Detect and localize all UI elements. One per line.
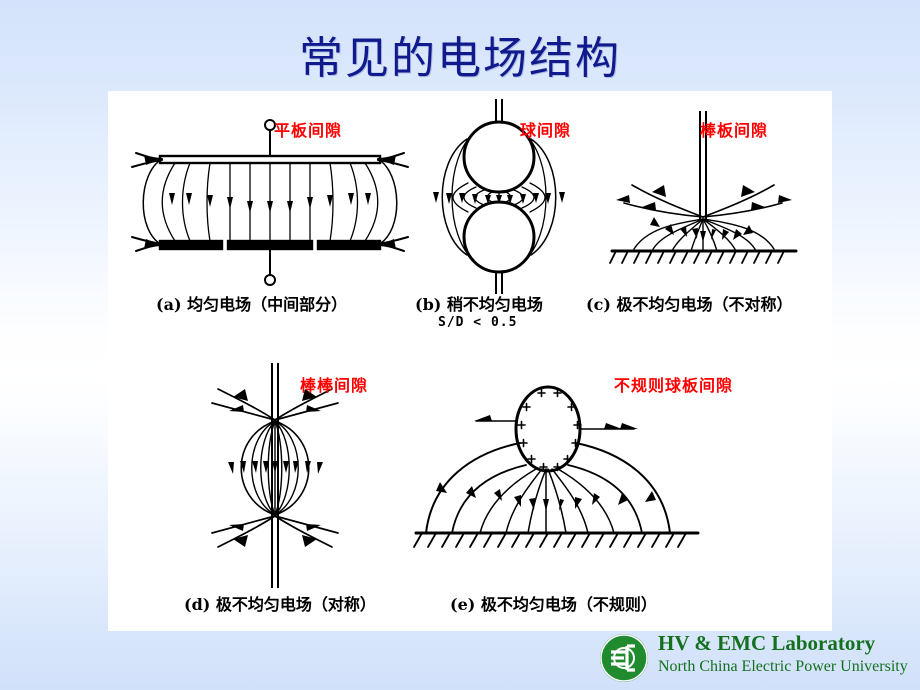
caption-e: (e) 极不均匀电场（不规则） <box>450 591 657 615</box>
caption-c: (c) 极不均匀电场（不对称） <box>586 291 792 315</box>
label-plate-gap: 平板间隙 <box>274 117 342 141</box>
label-rod-plate-gap: 棒板间隙 <box>700 117 768 141</box>
label-sphere-gap: 球间隙 <box>520 117 571 141</box>
logo-line-1: HV & EMC Laboratory <box>658 630 918 656</box>
page-title: 常见的电场结构 <box>0 22 920 86</box>
label-irregular-sphere-plate-gap: 不规则球板间隙 <box>614 372 733 396</box>
subcaption-b: S/D < 0.5 <box>438 315 517 330</box>
content-panel: 平板间隙 <box>108 91 832 631</box>
caption-b: (b) 稍不均匀电场 <box>415 291 543 315</box>
figure-rod-rod-gap <box>204 363 384 588</box>
logo-line-2: North China Electric Power University <box>658 656 918 678</box>
caption-a: (a) 均匀电场（中间部分） <box>156 291 347 315</box>
ncepu-logo-icon <box>598 632 650 684</box>
figure-plate-gap <box>120 113 420 293</box>
logo: HV & EMC Laboratory North China Electric… <box>598 630 918 688</box>
caption-d: (d) 极不均匀电场（对称） <box>184 591 376 615</box>
figure-irregular-sphere-plate-gap <box>408 381 708 581</box>
label-rod-rod-gap: 棒棒间隙 <box>300 372 368 396</box>
